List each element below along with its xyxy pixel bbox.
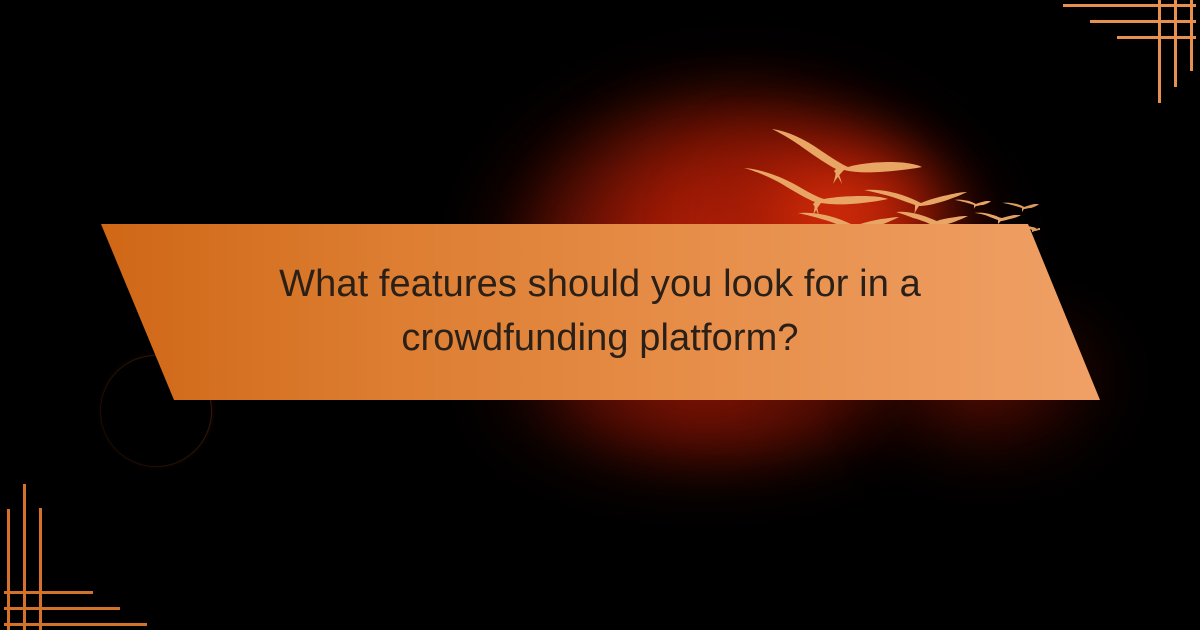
deco-v-line-3 xyxy=(1190,0,1193,71)
deco-v-line-1 xyxy=(1158,0,1161,103)
deco-h-line-6 xyxy=(4,591,93,594)
deco-h-line-5 xyxy=(4,607,120,610)
deco-v-line-2 xyxy=(1174,0,1177,87)
page-title: What features should you look for in a c… xyxy=(180,258,1020,366)
deco-h-line-3 xyxy=(1117,36,1196,39)
poster-canvas: What features should you look for in a c… xyxy=(0,0,1200,630)
deco-h-line-2 xyxy=(1090,20,1196,23)
deco-v-line-5 xyxy=(23,484,26,630)
deco-v-line-6 xyxy=(39,508,42,630)
deco-v-line-4 xyxy=(7,509,10,630)
